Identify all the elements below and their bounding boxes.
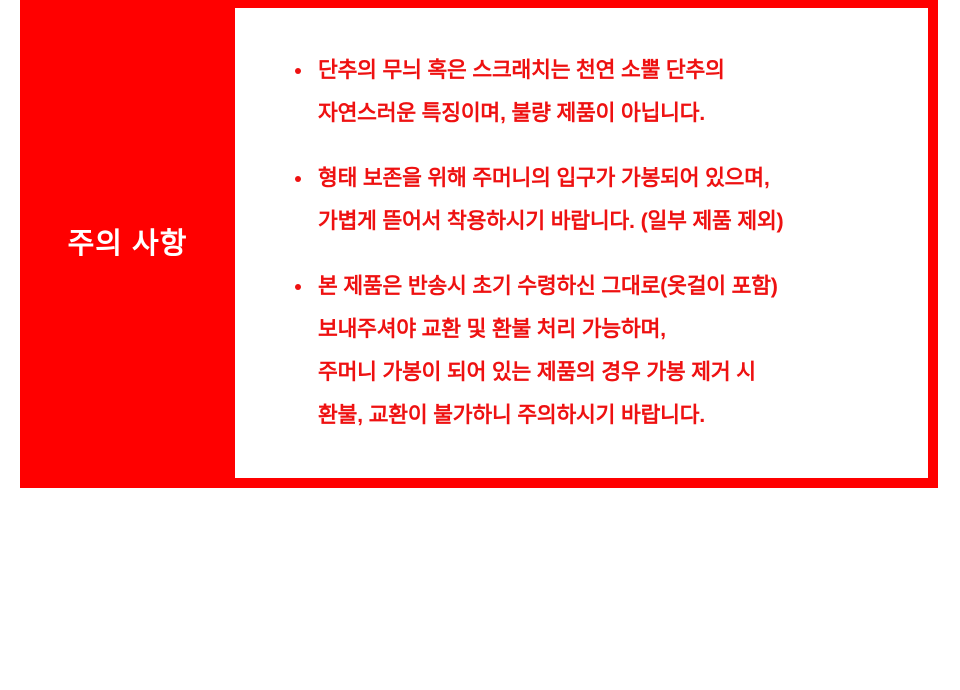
- notice-title-pane: 주의 사항: [20, 0, 235, 488]
- notice-text-line: 가볍게 뜯어서 착용하시기 바랍니다. (일부 제품 제외): [293, 200, 928, 243]
- list-item: 본 제품은 반송시 초기 수령하신 그대로(옷걸이 포함) 보내주셔야 교환 및…: [293, 265, 928, 437]
- notice-text-line: 단추의 무늬 혹은 스크래치는 천연 소뿔 단추의: [293, 49, 928, 92]
- notice-text-line: 형태 보존을 위해 주머니의 입구가 가봉되어 있으며,: [293, 157, 928, 200]
- page-title: 주의 사항: [68, 227, 188, 262]
- notice-banner: 주의 사항 단추의 무늬 혹은 스크래치는 천연 소뿔 단추의 자연스러운 특징…: [20, 0, 938, 488]
- notice-text-line: 자연스러운 특징이며, 불량 제품이 아닙니다.: [293, 92, 928, 135]
- notice-body-pane: 단추의 무늬 혹은 스크래치는 천연 소뿔 단추의 자연스러운 특징이며, 불량…: [235, 8, 928, 478]
- notice-text-line: 주머니 가봉이 되어 있는 제품의 경우 가봉 제거 시: [293, 351, 928, 394]
- list-item: 형태 보존을 위해 주머니의 입구가 가봉되어 있으며, 가볍게 뜯어서 착용하…: [293, 157, 928, 243]
- notice-text-line: 환불, 교환이 불가하니 주의하시기 바랍니다.: [293, 394, 928, 437]
- list-item: 단추의 무늬 혹은 스크래치는 천연 소뿔 단추의 자연스러운 특징이며, 불량…: [293, 49, 928, 135]
- notice-text-line: 보내주셔야 교환 및 환불 처리 가능하며,: [293, 308, 928, 351]
- notice-text-line: 본 제품은 반송시 초기 수령하신 그대로(옷걸이 포함): [293, 265, 928, 308]
